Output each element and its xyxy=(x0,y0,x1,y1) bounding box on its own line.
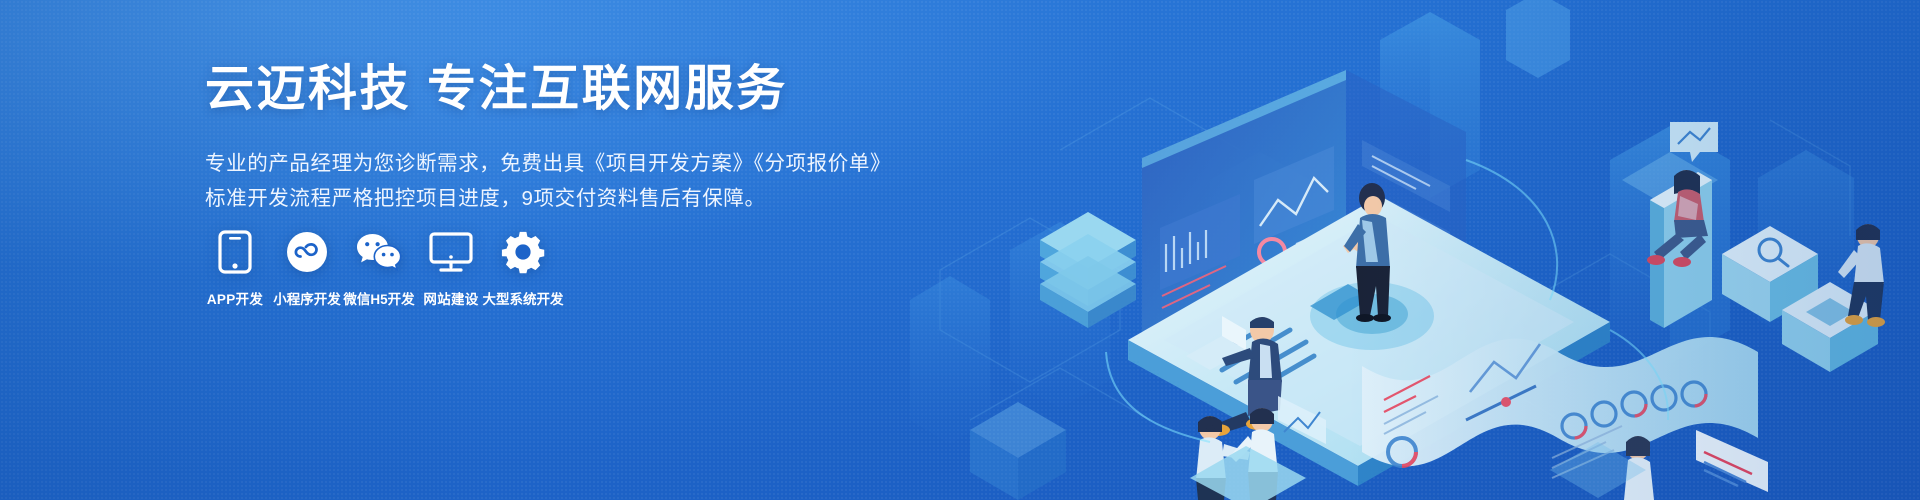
service-item-large-system[interactable]: 大型系统开发 xyxy=(488,228,558,308)
hero-banner: 云迈科技 专注互联网服务 专业的产品经理为您诊断需求，免费出具《项目开发方案》《… xyxy=(0,0,1920,500)
subtitle-line-2: 标准开发流程严格把控项目进度，9项交付资料售后有保障。 xyxy=(205,182,925,215)
wechat-icon xyxy=(355,228,403,276)
smartphone-icon xyxy=(218,228,252,276)
miniprogram-icon xyxy=(286,228,328,276)
isometric-tech-illustration xyxy=(910,0,1920,500)
service-label: 网站建设 xyxy=(423,288,478,308)
monitor-icon xyxy=(429,228,473,276)
service-item-app[interactable]: APP开发 xyxy=(200,228,270,308)
hero-copy: 云迈科技 专注互联网服务 专业的产品经理为您诊断需求，免费出具《项目开发方案》《… xyxy=(205,62,925,215)
ribbon-chart-card xyxy=(1696,430,1768,492)
page-title: 云迈科技 专注互联网服务 xyxy=(205,62,925,117)
service-item-wechat-h5[interactable]: 微信H5开发 xyxy=(344,228,414,308)
service-label: 小程序开发 xyxy=(273,288,341,308)
gear-icon xyxy=(501,228,545,276)
service-icon-row: APP开发 小程序开发 微信 xyxy=(200,228,558,308)
subtitle-line-1: 专业的产品经理为您诊断需求，免费出具《项目开发方案》《分项报价单》 xyxy=(205,147,925,180)
service-item-website[interactable]: 网站建设 xyxy=(416,228,486,308)
service-item-miniprogram[interactable]: 小程序开发 xyxy=(272,228,342,308)
service-label: 微信H5开发 xyxy=(343,288,414,308)
service-label: APP开发 xyxy=(207,288,263,308)
service-label: 大型系统开发 xyxy=(483,288,564,308)
